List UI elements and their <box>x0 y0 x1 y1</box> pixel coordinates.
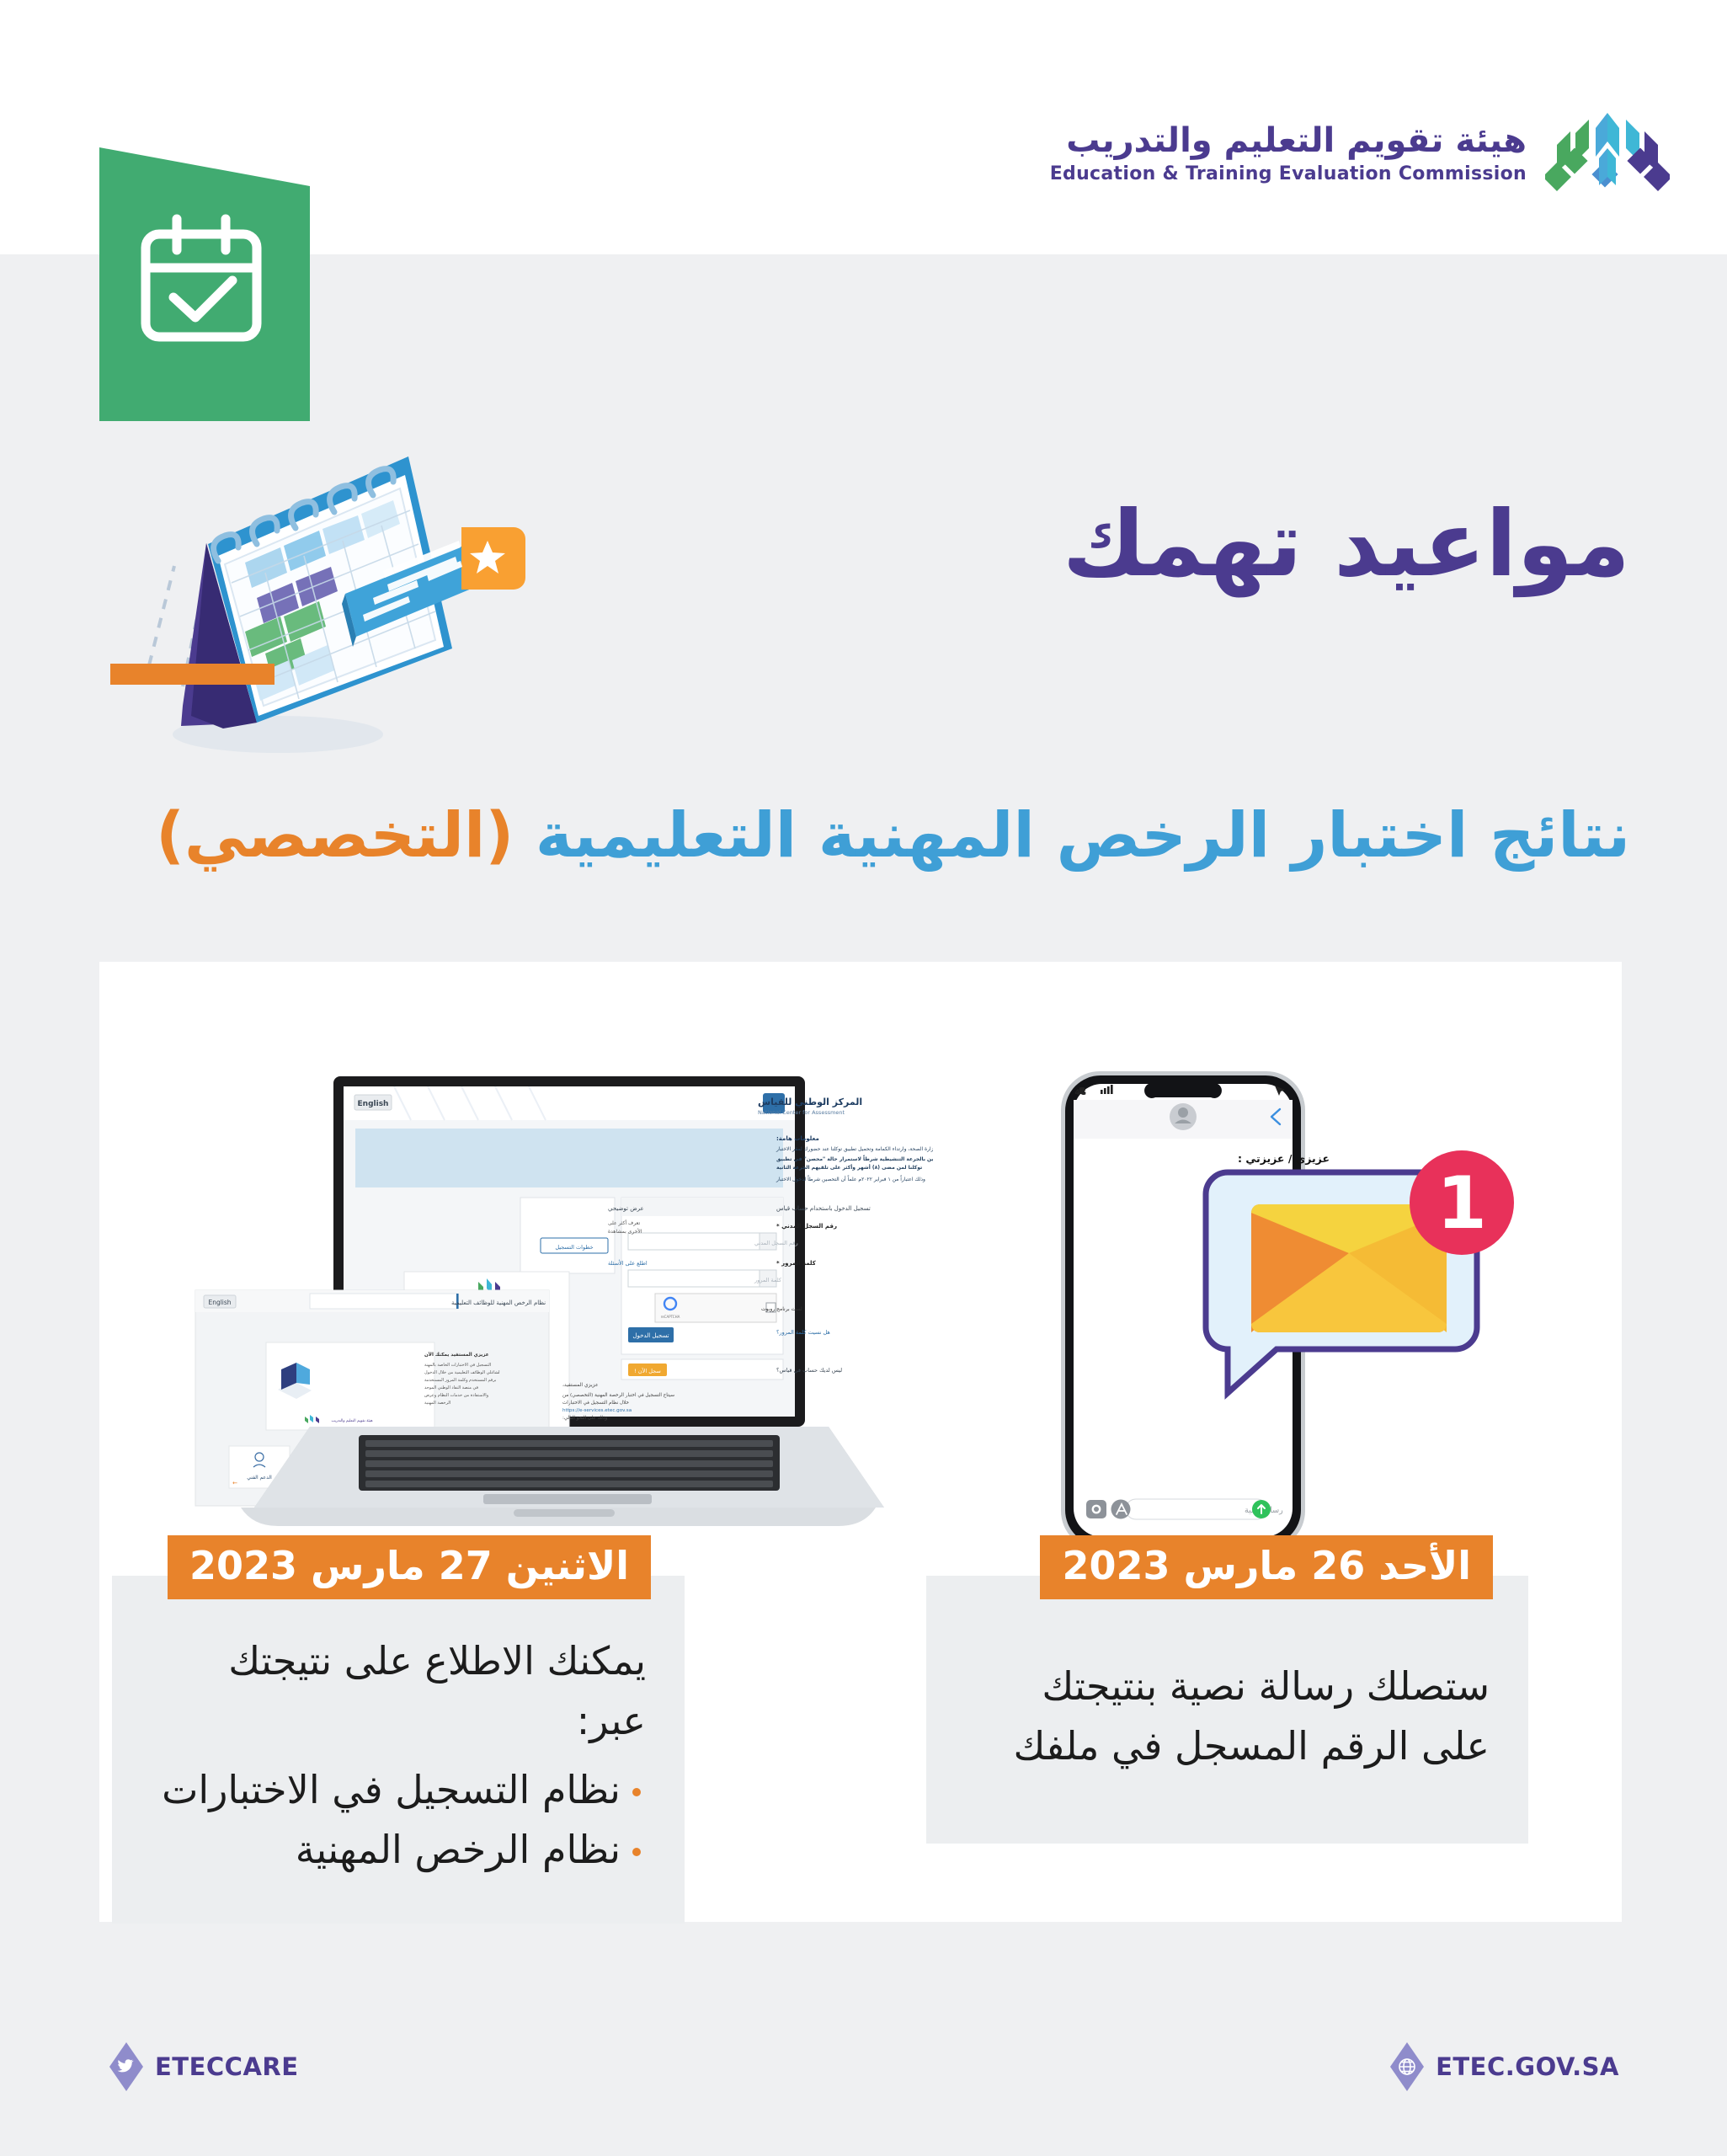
svg-text:ليس لديك حساب في قياس؟: ليس لديك حساب في قياس؟ <box>776 1367 842 1374</box>
svg-text:والاستفادة من خدمات النظام وعر: والاستفادة من خدمات النظام وعرض <box>424 1393 489 1398</box>
svg-text:المركز الوطني للقياس: المركز الوطني للقياس <box>758 1097 862 1107</box>
svg-text:تسجيل الدخول: تسجيل الدخول <box>632 1332 669 1339</box>
svg-text:وذلك اعتباراً من ١ فبراير ٢٠٢٢: وذلك اعتباراً من ١ فبراير ٢٠٢٢م علماً أن… <box>776 1176 925 1182</box>
svg-text:لست برنامج روبوت: لست برنامج روبوت <box>761 1306 802 1312</box>
card-body-online: يمكنك الاطلاع على نتيجتك عبر: نظام التسج… <box>112 1576 685 1924</box>
footer <box>0 1922 1727 2156</box>
footer-website-label: ETEC.GOV.SA <box>1436 2052 1619 2081</box>
subtitle-accent: (التخصصي) <box>156 799 514 872</box>
access-methods-list: نظام التسجيل في الاختبارات نظام الرخص ال… <box>151 1760 646 1881</box>
svg-text:١. نود التنويه بضرورة الأخذ با: ١. نود التنويه بضرورة الأخذ بالاحترازات … <box>776 1145 933 1152</box>
svg-text:عزيزي المستفيد يمكنك الآن: عزيزي المستفيد يمكنك الآن <box>424 1351 489 1358</box>
svg-text:هل نسيت كلمة المرور؟: هل نسيت كلمة المرور؟ <box>776 1329 830 1336</box>
subtitle-main: نتائج اختبار الرخص المهنية التعليمية <box>514 799 1630 872</box>
svg-text:عرض توضيحي: عرض توضيحي <box>608 1205 644 1212</box>
green-banner <box>99 147 310 421</box>
svg-text:←: ← <box>232 1480 237 1486</box>
svg-text:English: English <box>208 1299 231 1306</box>
etec-wordmark: هيئة تقويم التعليم والتدريب Education & … <box>1050 121 1527 185</box>
card-body-sms: ستصلك رسالة نصية بنتيجتك على الرقم المسج… <box>926 1576 1528 1844</box>
card-intro-text: يمكنك الاطلاع على نتيجتك عبر: <box>151 1631 646 1752</box>
etec-wheat-mark-icon <box>1545 108 1670 199</box>
footer-website-link[interactable]: ETEC.GOV.SA <box>1390 2042 1619 2091</box>
card-results-online: الاثنين 27 مارس 2023 يمكنك الاطلاع على ن… <box>112 1535 685 1924</box>
footer-twitter-label: ETECCARE <box>155 2052 299 2081</box>
page-title: مواعيد تهمك <box>1063 497 1630 592</box>
svg-text:عزيزي / عزيزتي :: عزيزي / عزيزتي : <box>1238 1152 1330 1165</box>
svg-text:الدعم الفني: الدعم الفني <box>247 1475 272 1481</box>
svg-text:عزيزي المستفيد،: عزيزي المستفيد، <box>562 1382 599 1388</box>
svg-text:الرخصة المهنية: الرخصة المهنية <box>424 1401 450 1406</box>
date-badge-sunday: الأحد 26 مارس 2023 <box>1040 1535 1493 1599</box>
list-item: نظام الرخص المهنية <box>151 1820 646 1880</box>
svg-text:English: English <box>358 1100 389 1108</box>
twitter-bird-icon <box>109 2042 143 2091</box>
svg-text:وذلك على النحو التالي:: وذلك على النحو التالي: <box>562 1416 607 1421</box>
svg-text:https://e-services.etec.gov.sa: https://e-services.etec.gov.sa <box>562 1408 632 1413</box>
svg-text:هيئة تقويم التعليم والتدريب: هيئة تقويم التعليم والتدريب <box>331 1419 373 1423</box>
svg-text:الأخرى بمشاهدة: الأخرى بمشاهدة <box>608 1228 642 1235</box>
svg-text:كلمة المرور: كلمة المرور <box>754 1277 782 1283</box>
org-name-arabic: هيئة تقويم التعليم والتدريب <box>1050 121 1527 160</box>
svg-text:في منصة النفاذ الوطني الموحد: في منصة النفاذ الوطني الموحد <box>424 1385 479 1390</box>
svg-text:نظام الرخص المهنية للوظائف الت: نظام الرخص المهنية للوظائف التعليمية <box>451 1299 546 1306</box>
globe-icon <box>1390 2042 1424 2091</box>
svg-text:سجل الآن !: سجل الآن ! <box>634 1367 661 1374</box>
svg-text:برقم المستخدم وكلمة المرور الم: برقم المستخدم وكلمة المرور المستخدمة <box>424 1378 496 1383</box>
svg-text:اطلع على الأسئلة: اطلع على الأسئلة <box>608 1259 648 1267</box>
svg-text:كلمة المرور *: كلمة المرور * <box>776 1260 817 1267</box>
svg-text:تعرف أكثر على: تعرف أكثر على <box>608 1219 640 1226</box>
footer-twitter-handle[interactable]: ETECCARE <box>109 2042 299 2091</box>
svg-text:توكلنا لمن مضى (٨) أشهر وأكثر: توكلنا لمن مضى (٨) أشهر وأكثر على تلقيهم… <box>776 1164 922 1171</box>
svg-text:reCAPTCHA: reCAPTCHA <box>661 1315 680 1319</box>
svg-text:رقم السجل المدني *: رقم السجل المدني * <box>776 1223 837 1230</box>
list-item: نظام التسجيل في الاختبارات <box>151 1760 646 1820</box>
title-accent-rule <box>110 664 275 685</box>
desk-calendar-illustration <box>131 438 543 779</box>
sms-notification-bubble: 1 <box>1206 1150 1514 1393</box>
date-badge-monday: الاثنين 27 مارس 2023 <box>168 1535 651 1599</box>
svg-text:1: 1 <box>1437 1161 1487 1246</box>
svg-text:National Center for Assessment: National Center for Assessment <box>758 1109 845 1116</box>
svg-text:٢. أن تكون حالة الوضع الصحي في: ٢. أن تكون حالة الوضع الصحي في تطبيق توك… <box>776 1155 933 1162</box>
etec-logo: هيئة تقويم التعليم والتدريب Education & … <box>1050 108 1670 199</box>
card-results-sms: الأحد 26 مارس 2023 ستصلك رسالة نصية بنتي… <box>926 1535 1528 1844</box>
svg-text:سيتاح التسجيل في اختبار الرخصة: سيتاح التسجيل في اختبار الرخصة المهنية (… <box>562 1393 674 1398</box>
svg-text:خطوات التسجيل: خطوات التسجيل <box>555 1244 593 1251</box>
svg-text:رقم السجل المدني: رقم السجل المدني <box>754 1240 798 1246</box>
svg-text:خلال نظام التسجيل في الاختبارا: خلال نظام التسجيل في الاختبارات <box>562 1401 629 1406</box>
svg-text:تسجيل الدخول باستخدام حساب قيا: تسجيل الدخول باستخدام حساب قياس <box>776 1205 871 1212</box>
sms-line-1: ستصلك رسالة نصية بنتيجتك <box>965 1657 1490 1716</box>
org-name-english: Education & Training Evaluation Commissi… <box>1050 163 1527 185</box>
svg-text:معلومات هامة:: معلومات هامة: <box>776 1135 819 1142</box>
svg-text:التسجيل في الاختبارات الخاصة ب: التسجيل في الاختبارات الخاصة بالمهنة <box>424 1363 491 1368</box>
svg-text:لشاغلي الوظائف التعليمية من خل: لشاغلي الوظائف التعليمية من خلال الدخول <box>424 1370 500 1375</box>
page-subtitle: نتائج اختبار الرخص المهنية التعليمية (ال… <box>156 800 1630 872</box>
sms-line-2: على الرقم المسجل في ملفك <box>965 1716 1490 1776</box>
